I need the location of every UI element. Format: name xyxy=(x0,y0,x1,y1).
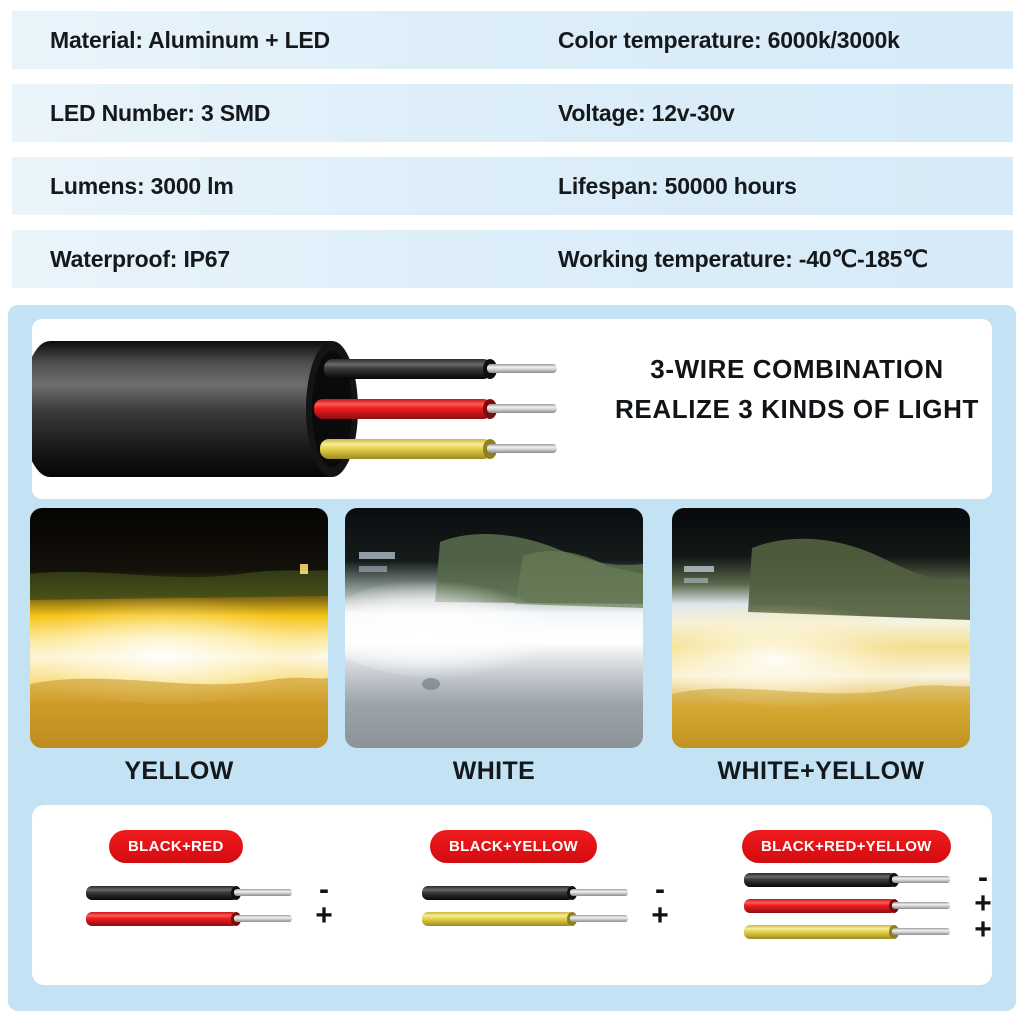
three-wire-cable-icon xyxy=(32,319,592,499)
combination-black-yellow: BLACK+YELLOW xyxy=(402,805,702,985)
cable-headline-line-2: REALIZE 3 KINDS OF LIGHT xyxy=(607,389,987,429)
table-row: Material: Aluminum + LED Color temperatu… xyxy=(12,11,1013,69)
table-row: Lumens: 3000 lm Lifespan: 50000 hours xyxy=(12,157,1013,215)
beam-caption-white: WHITE xyxy=(345,757,643,786)
status-badge: BLACK+RED xyxy=(109,830,243,863)
beam-photo-yellow xyxy=(30,508,328,748)
wire-yellow xyxy=(422,906,637,932)
wiring-combinations-card: BLACK+RED - xyxy=(32,805,992,985)
combination-black-red-yellow: BLACK+RED+YELLOW xyxy=(722,805,992,985)
wire-black xyxy=(422,880,637,906)
wire-pair-black-red xyxy=(86,880,301,932)
red-wire-icon xyxy=(744,893,959,919)
spec-voltage-label: Voltage: 12v-30v xyxy=(558,100,735,127)
cable-headline: 3-WIRE COMBINATION REALIZE 3 KINDS OF LI… xyxy=(607,349,987,430)
black-wire-icon xyxy=(422,880,637,906)
yellow-wire-icon xyxy=(422,906,637,932)
spec-led-number-label: LED Number: 3 SMD xyxy=(50,100,558,127)
cable-diagram-card: 3-WIRE COMBINATION REALIZE 3 KINDS OF LI… xyxy=(32,319,992,499)
wire-black xyxy=(86,880,301,906)
polarity-signs: - + + xyxy=(970,865,996,943)
wire-red xyxy=(86,906,301,932)
yellow-beam-image xyxy=(30,508,328,748)
spec-material-label: Material: Aluminum + LED xyxy=(50,27,558,54)
wire-triple-black-red-yellow xyxy=(744,867,959,945)
spec-working-temperature-label: Working temperature: -40℃-185℃ xyxy=(558,246,928,273)
combination-black-red: BLACK+RED - xyxy=(66,805,366,985)
beam-photo-white xyxy=(345,508,643,748)
spec-color-temperature-label: Color temperature: 6000k/3000k xyxy=(558,27,900,54)
wire-yellow xyxy=(744,919,959,945)
yellow-wire-icon xyxy=(744,919,959,945)
cable-headline-line-1: 3-WIRE COMBINATION xyxy=(607,349,987,389)
spec-lifespan-label: Lifespan: 50000 hours xyxy=(558,173,797,200)
polarity-sign: + xyxy=(311,903,337,929)
polarity-sign: + xyxy=(970,917,996,943)
beam-caption-white-yellow: WHITE+YELLOW xyxy=(672,757,970,786)
spec-lumens-label: Lumens: 3000 lm xyxy=(50,173,558,200)
wire-black xyxy=(744,867,959,893)
table-row: LED Number: 3 SMD Voltage: 12v-30v xyxy=(12,84,1013,142)
feature-panel: 3-WIRE COMBINATION REALIZE 3 KINDS OF LI… xyxy=(8,305,1016,1011)
white-yellow-beam-image xyxy=(672,508,970,748)
polarity-sign: + xyxy=(647,903,673,929)
spec-waterproof-label: Waterproof: IP67 xyxy=(50,246,558,273)
white-beam-image xyxy=(345,508,643,748)
wire-red xyxy=(744,893,959,919)
black-wire-icon xyxy=(86,880,301,906)
beam-photo-white-yellow xyxy=(672,508,970,748)
status-badge: BLACK+RED+YELLOW xyxy=(742,830,951,863)
polarity-signs: - + xyxy=(647,877,673,929)
beam-caption-yellow: YELLOW xyxy=(30,757,328,786)
polarity-signs: - + xyxy=(311,877,337,929)
wire-pair-black-yellow xyxy=(422,880,637,932)
red-wire-icon xyxy=(86,906,301,932)
specifications-table: Material: Aluminum + LED Color temperatu… xyxy=(0,0,1024,300)
table-row: Waterproof: IP67 Working temperature: -4… xyxy=(12,230,1013,288)
black-wire-icon xyxy=(744,867,959,893)
status-badge: BLACK+YELLOW xyxy=(430,830,597,863)
